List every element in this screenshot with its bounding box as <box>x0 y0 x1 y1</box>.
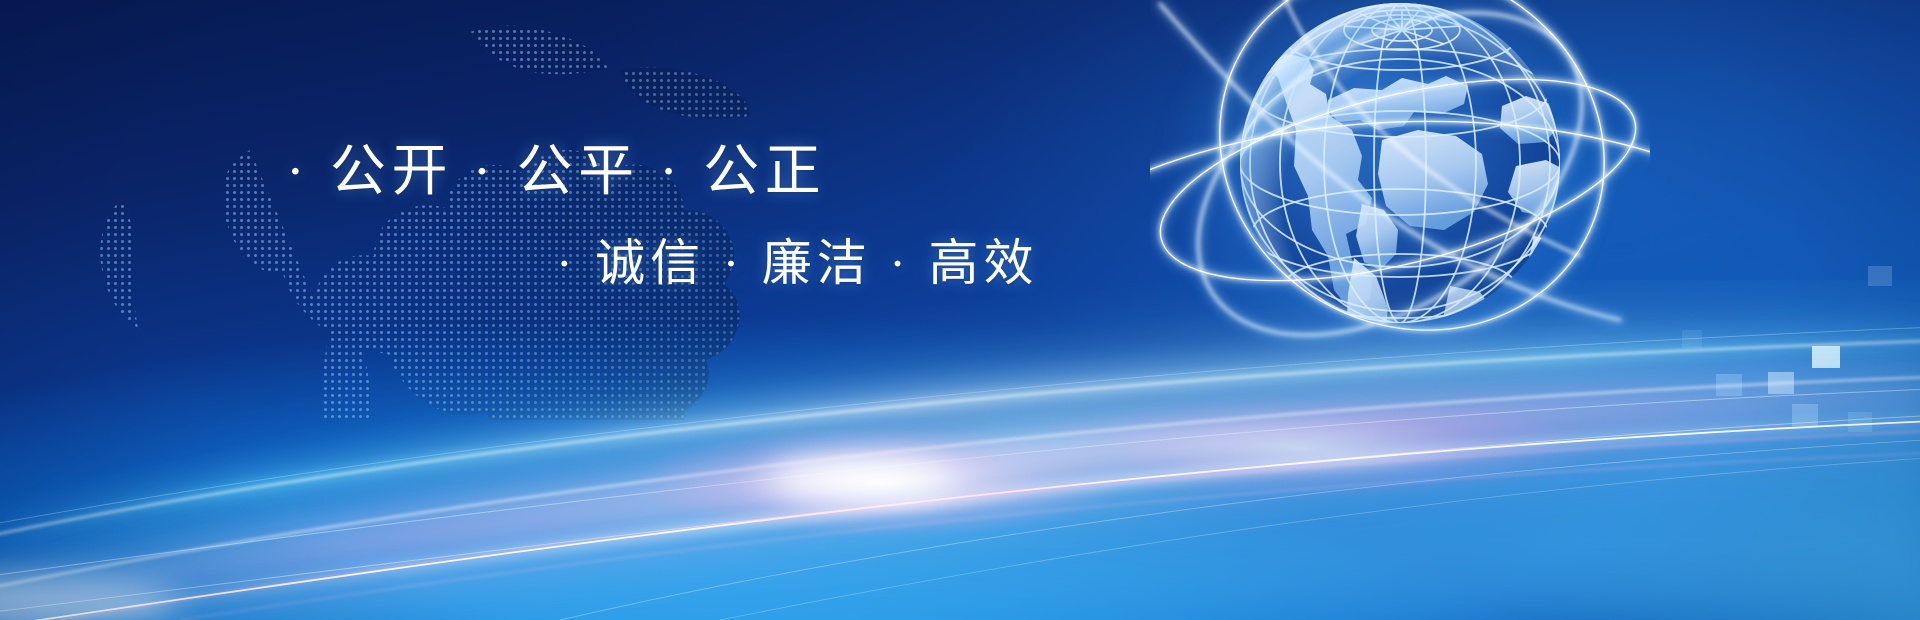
light-wave-streaks <box>0 280 1920 620</box>
headline-line-1: · 公开 · 公平 · 公正 <box>286 144 826 200</box>
banner-canvas: · 公开 · 公平 · 公正 · 诚信 · 廉洁 · 高效 <box>0 0 1920 620</box>
